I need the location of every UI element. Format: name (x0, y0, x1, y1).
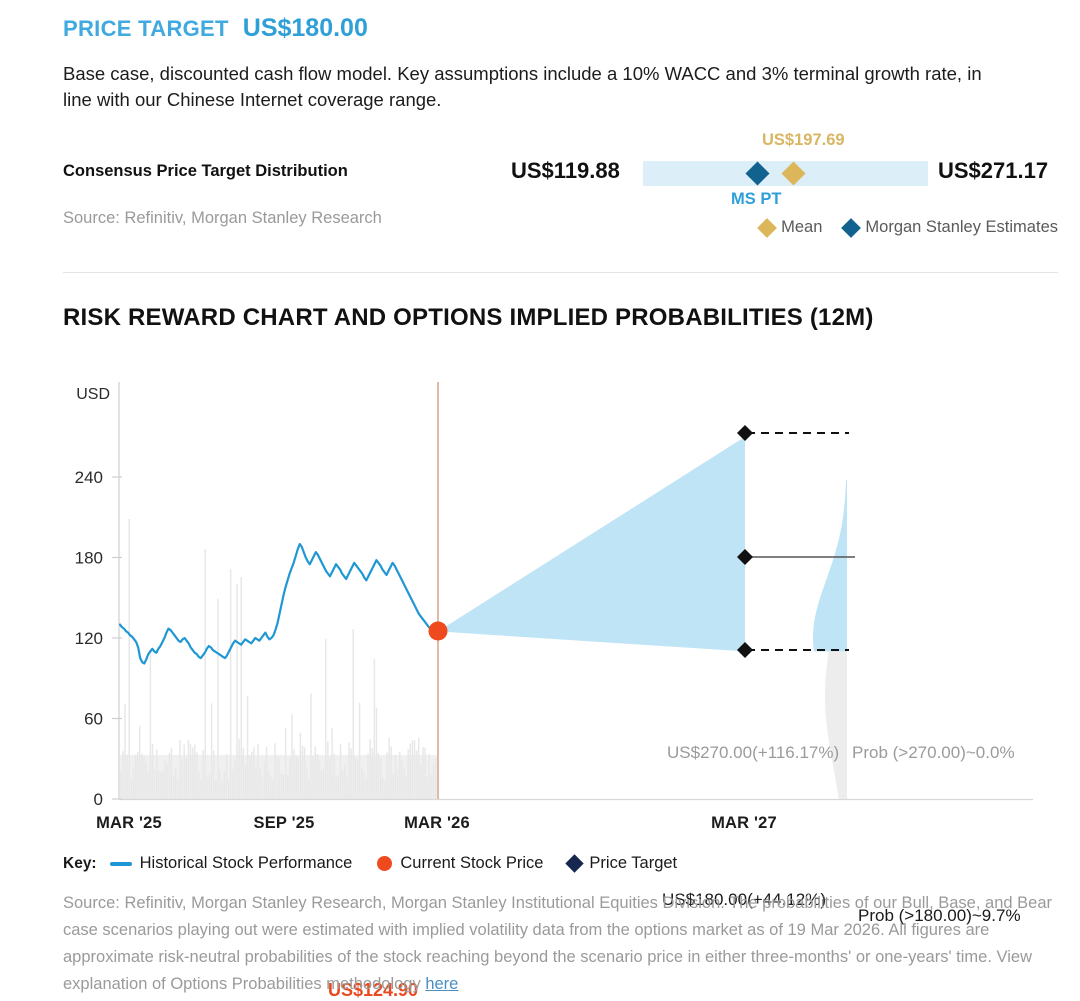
circle-icon (377, 856, 392, 871)
legend-mean-label: Mean (781, 218, 822, 237)
volume-bar (380, 758, 382, 799)
volume-bar (266, 747, 268, 799)
volume-bar (240, 577, 242, 799)
volume-bar (272, 779, 274, 799)
volume-bar (393, 774, 395, 799)
volume-bar (357, 760, 359, 799)
volume-bar (192, 747, 194, 799)
volume-bar (124, 704, 126, 799)
volume-bar (405, 777, 407, 799)
consensus-legend: Mean Morgan Stanley Estimates (760, 218, 1058, 237)
y-tick-label: 180 (75, 549, 103, 568)
volume-bar (418, 738, 420, 799)
volume-bar (126, 755, 128, 799)
volume-bar (236, 584, 238, 799)
volume-bar (158, 770, 160, 799)
volume-bar (435, 759, 437, 799)
volume-bar (181, 759, 183, 799)
volume-bar (245, 765, 247, 799)
volume-bar (412, 740, 414, 799)
key-item-historical: Historical Stock Performance (110, 854, 353, 873)
volume-bar (371, 748, 373, 799)
bull-price-annotation: US$270.00(+116.17%) (667, 743, 839, 763)
volume-bar (352, 629, 354, 799)
consensus-title: Consensus Price Target Distribution (63, 162, 348, 181)
volume-bar (399, 752, 401, 799)
x-tick-label: MAR '26 (404, 814, 470, 832)
volume-bar (232, 769, 234, 799)
consensus-source: Source: Refinitiv, Morgan Stanley Resear… (63, 209, 382, 228)
y-axis-ticks: 060120180240 (75, 468, 122, 809)
volume-bar (302, 746, 304, 799)
volume-bars (120, 519, 437, 799)
volume-bar (304, 747, 306, 799)
volume-bar (253, 747, 255, 799)
volume-bar (426, 777, 428, 799)
volume-bar (179, 740, 181, 799)
volume-bar (384, 781, 386, 799)
volume-bar (188, 740, 190, 799)
volume-bar (295, 756, 297, 799)
volume-bar (156, 749, 158, 799)
key-item-label: Historical Stock Performance (140, 854, 353, 873)
volume-bar (310, 694, 312, 799)
mean-diamond-icon (781, 161, 805, 185)
x-tick-label: SEP '25 (254, 814, 315, 832)
line-icon (110, 862, 132, 866)
volume-bar (221, 781, 223, 799)
mean-diamond-icon (757, 218, 777, 238)
volume-bar (131, 779, 133, 799)
key-item-current-price: Current Stock Price (377, 854, 543, 873)
volume-bar (346, 777, 348, 799)
ms-pt-diamond-icon (745, 161, 769, 185)
y-tick-label: 240 (75, 468, 103, 487)
volume-bar (186, 758, 188, 799)
volume-bar (202, 750, 204, 799)
volume-bar (166, 763, 168, 799)
volume-bar (293, 749, 295, 799)
volume-bar (171, 748, 173, 799)
volume-bar (135, 755, 137, 799)
consensus-mean-price: US$197.69 (762, 131, 845, 150)
volume-bar (128, 519, 130, 799)
volume-bar (359, 703, 361, 799)
distribution-curve (813, 480, 847, 652)
y-axis-label: USD (76, 386, 110, 403)
legend-ms-label: Morgan Stanley Estimates (865, 218, 1058, 237)
volume-bar (152, 744, 154, 799)
volume-bar (194, 745, 196, 799)
chart-key-legend: Key: Historical Stock Performance Curren… (63, 854, 693, 873)
volume-bar (173, 775, 175, 799)
volume-bar (414, 740, 416, 799)
ms-pt-label: MS PT (731, 190, 781, 209)
volume-bar (209, 774, 211, 799)
y-tick-label: 60 (84, 710, 103, 729)
risk-reward-page: PRICE TARGET US$180.00 Base case, discou… (0, 0, 1080, 1001)
volume-bar (183, 744, 185, 799)
y-tick-label: 120 (75, 629, 103, 648)
volume-bar (340, 744, 342, 799)
volume-bar (175, 768, 177, 799)
volume-bar (164, 760, 166, 799)
diamond-icon (566, 854, 584, 872)
volume-bar (120, 771, 122, 799)
volume-bar (145, 762, 147, 799)
volume-bar (270, 777, 272, 799)
volume-bar (391, 746, 393, 799)
volume-bar (374, 659, 376, 799)
price-target-header: PRICE TARGET US$180.00 (63, 14, 368, 43)
volume-bar (321, 770, 323, 799)
volume-bar (323, 768, 325, 799)
volume-bar (291, 714, 293, 799)
volume-bar (397, 770, 399, 799)
volume-bar (344, 765, 346, 799)
legend-ms-estimates: Morgan Stanley Estimates (844, 218, 1058, 237)
volume-bar (355, 758, 357, 799)
volume-bar (162, 771, 164, 799)
bull-prob-annotation: Prob (>270.00)~0.0% (852, 743, 1015, 763)
volume-bar (285, 728, 287, 799)
x-tick-label: MAR '25 (96, 814, 162, 832)
volume-bar (388, 738, 390, 799)
volume-bar (403, 769, 405, 799)
volume-bar (133, 769, 135, 799)
volume-bar (196, 753, 198, 799)
volume-bar (416, 750, 418, 799)
consensus-low-value: US$119.88 (511, 158, 620, 184)
key-item-label: Current Stock Price (400, 854, 543, 873)
volume-bar (420, 765, 422, 799)
volume-bar (211, 703, 213, 799)
volume-bar (378, 753, 380, 799)
volume-bar (264, 761, 266, 799)
volume-bar (300, 733, 302, 799)
price-target-value: US$180.00 (243, 14, 368, 43)
volume-bar (283, 774, 285, 799)
volume-bar (333, 753, 335, 799)
volume-bar (200, 780, 202, 799)
consensus-distribution-row: Consensus Price Target Distribution US$1… (63, 158, 1058, 188)
volume-bar (217, 599, 219, 799)
risk-reward-chart: 060120180240 USD MAR '25SEP '25MAR '26MA… (0, 360, 1080, 840)
volume-bar (279, 757, 281, 799)
historical-price-line (120, 544, 437, 663)
volume-bar (213, 751, 215, 799)
consensus-high-value: US$271.17 (938, 158, 1048, 184)
volume-bar (228, 781, 230, 799)
volume-bar (367, 754, 369, 799)
volume-bar (238, 739, 240, 799)
volume-bar (230, 569, 232, 799)
bull-price-target-diamond-icon (737, 425, 753, 441)
volume-bar (169, 753, 171, 799)
section-title: RISK REWARD CHART AND OPTIONS IMPLIED PR… (63, 304, 874, 332)
volume-bar (424, 747, 426, 799)
current-price-dot-icon (429, 622, 448, 641)
volume-bar (276, 757, 278, 799)
volume-bar (308, 779, 310, 799)
volume-bar (298, 758, 300, 799)
volume-bar (177, 778, 179, 799)
y-tick-label: 0 (94, 790, 103, 809)
volume-bar (215, 780, 217, 799)
volume-bar (255, 766, 257, 799)
key-item-label: Price Target (589, 854, 677, 873)
volume-bar (395, 755, 397, 799)
volume-bar (234, 761, 236, 799)
volume-bar (336, 778, 338, 800)
volume-bar (317, 754, 319, 799)
volume-bar (429, 754, 431, 799)
volume-bar (251, 752, 253, 799)
volume-bar (319, 760, 321, 799)
scenario-cone (438, 437, 745, 652)
volume-bar (147, 772, 149, 799)
volume-bar (160, 772, 162, 799)
volume-bar (382, 778, 384, 799)
volume-bar (190, 744, 192, 799)
volume-bar (274, 743, 276, 799)
volume-bar (154, 769, 156, 799)
section-divider (63, 272, 1058, 273)
volume-bar (219, 770, 221, 799)
volume-bar (141, 754, 143, 799)
volume-bar (410, 743, 412, 799)
volume-bar (365, 778, 367, 799)
volume-bar (342, 770, 344, 799)
volume-bar (198, 773, 200, 799)
price-target-label: PRICE TARGET (63, 16, 229, 42)
volume-bar (257, 744, 259, 799)
volume-bar (314, 746, 316, 799)
volume-bar (137, 752, 139, 799)
volume-bar (289, 758, 291, 799)
volume-bar (327, 741, 329, 799)
methodology-link[interactable]: here (425, 975, 458, 993)
volume-bar (312, 757, 314, 799)
chart-footnote: Source: Refinitiv, Morgan Stanley Resear… (63, 890, 1058, 998)
volume-bar (433, 764, 435, 799)
price-target-description: Base case, discounted cash flow model. K… (63, 61, 993, 113)
volume-bar (329, 758, 331, 799)
volume-bar (139, 726, 141, 799)
volume-bar (348, 743, 350, 799)
volume-bar (207, 776, 209, 799)
volume-bar (249, 755, 251, 799)
volume-bar (431, 775, 433, 799)
volume-bar (287, 775, 289, 799)
volume-bar (338, 776, 340, 799)
volume-bar (259, 769, 261, 799)
volume-bar (226, 754, 228, 799)
chart-svg: 060120180240 USD MAR '25SEP '25MAR '26MA… (0, 360, 1080, 840)
volume-bar (401, 761, 403, 799)
x-axis-ticks: MAR '25SEP '25MAR '26MAR '27 (96, 814, 777, 832)
ms-diamond-icon (842, 218, 862, 238)
volume-bar (325, 639, 327, 799)
key-item-price-target: Price Target (568, 854, 677, 873)
volume-bar (386, 752, 388, 799)
legend-mean: Mean (760, 218, 822, 237)
volume-bar (361, 767, 363, 799)
volume-bar (122, 751, 124, 799)
volume-bar (350, 748, 352, 799)
x-tick-label: MAR '27 (711, 814, 777, 832)
volume-bar (262, 777, 264, 799)
volume-bar (268, 769, 270, 799)
volume-bar (247, 696, 249, 799)
volume-bar (281, 774, 283, 799)
volume-bar (143, 756, 145, 799)
volume-bar (363, 772, 365, 799)
volume-bar (205, 549, 207, 799)
volume-bar (376, 708, 378, 799)
volume-bar (369, 739, 371, 799)
volume-bar (407, 749, 409, 799)
volume-bar (306, 769, 308, 799)
key-label: Key: (63, 855, 97, 873)
volume-bar (224, 772, 226, 799)
footnote-text: Source: Refinitiv, Morgan Stanley Resear… (63, 894, 1052, 993)
volume-bar (422, 747, 424, 799)
volume-bar (150, 649, 152, 799)
volume-bar (243, 748, 245, 799)
consensus-range-bar (643, 161, 928, 186)
volume-bar (331, 728, 333, 799)
